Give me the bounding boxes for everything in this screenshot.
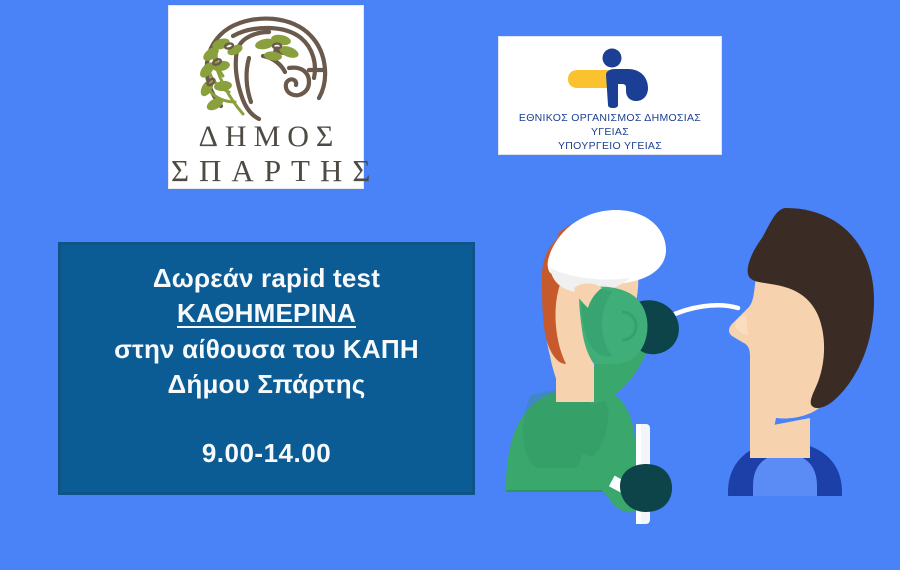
sparta-logo-line1: ΔΗΜΟΣ [169,122,363,153]
announcement-line-3: στην αίθουσα του ΚΑΠΗ [61,332,472,367]
patient-figure [728,208,874,496]
nasal-swab-test-illustration [470,196,900,570]
announcement-text-block: Δωρεάν rapid test ΚΑΘΗΜΕΡΙΝΑ στην αίθουσ… [61,245,472,469]
poster-canvas: ΔΗΜΟΣ ΣΠΑΡΤΗΣ ΕΘΝΙΚΟΣ ΟΡΓΑΝΙΣΜΟΣ ΔΗΜΟΣΙΑ… [0,0,900,570]
sparta-logo-line2: ΣΠΑΡΤΗΣ [161,155,371,187]
spartan-helmet-olive-branch-icon [177,10,355,126]
eody-logo: ΕΘΝΙΚΟΣ ΟΡΓΑΝΙΣΜΟΣ ΔΗΜΟΣΙΑΣ ΥΓΕΙΑΣ ΥΠΟΥΡ… [498,36,722,155]
announcement-hours: 9.00-14.00 [61,438,472,469]
announcement-line-2: ΚΑΘΗΜΕΡΙΝΑ [61,296,472,331]
announcement-line-4: Δήμου Σπάρτης [61,367,472,402]
eody-logo-line1: ΕΘΝΙΚΟΣ ΟΡΓΑΝΙΣΜΟΣ ΔΗΜΟΣΙΑΣ ΥΓΕΙΑΣ [499,111,721,139]
announcement-panel: Δωρεάν rapid test ΚΑΘΗΜΕΡΙΝΑ στην αίθουσ… [58,242,475,495]
sparta-municipality-logo: ΔΗΜΟΣ ΣΠΑΡΤΗΣ [168,5,364,189]
eody-logo-line2: ΥΠΟΥΡΓΕΙΟ ΥΓΕΙΑΣ [499,139,721,153]
sparta-logo-text: ΔΗΜΟΣ ΣΠΑΡΤΗΣ [169,122,363,186]
eody-logo-text: ΕΘΝΙΚΟΣ ΟΡΓΑΝΙΣΜΟΣ ΔΗΜΟΣΙΑΣ ΥΓΕΙΑΣ ΥΠΟΥΡ… [499,111,721,153]
announcement-line-1: Δωρεάν rapid test [61,261,472,296]
eody-human-figure-icon [562,47,658,109]
healthcare-worker-figure [506,210,679,524]
